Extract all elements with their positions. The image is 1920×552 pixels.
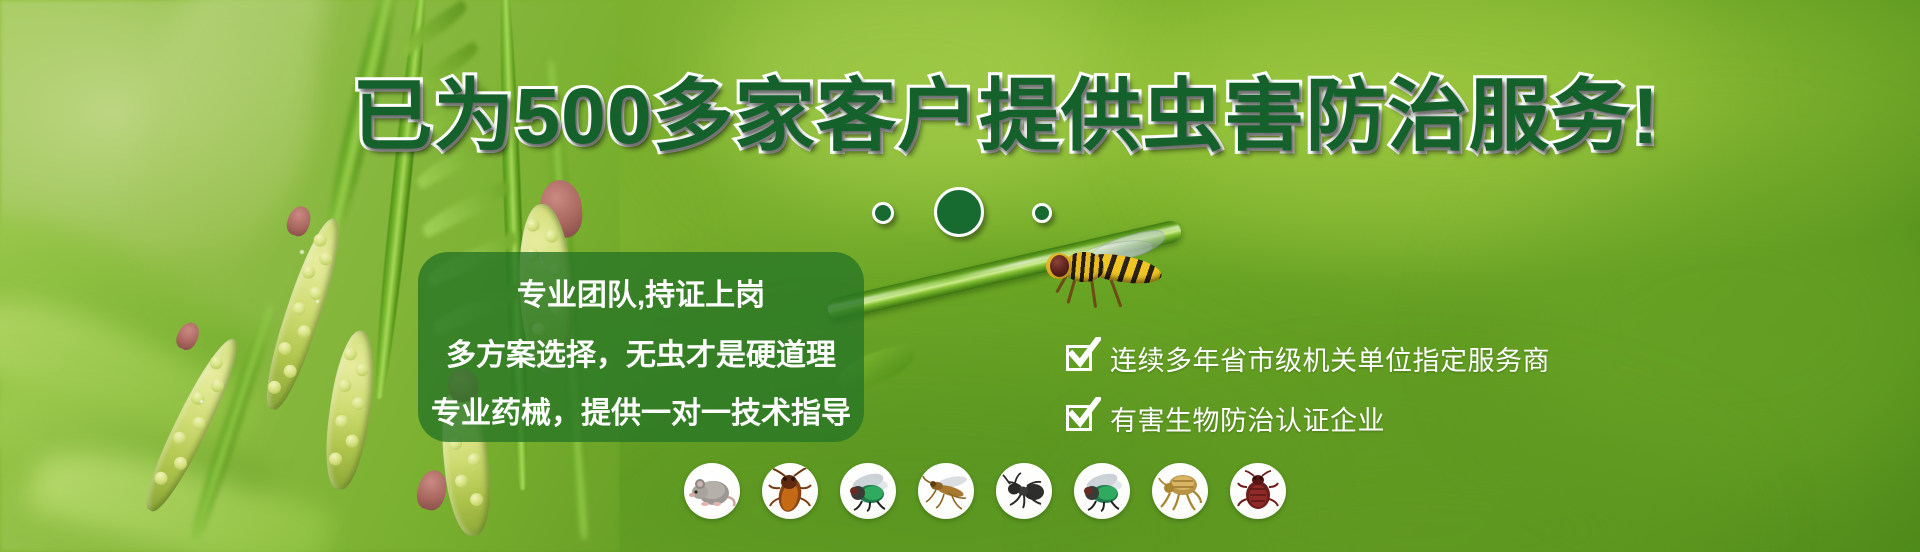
ant-icon: 蚂蚁 bbox=[996, 463, 1052, 519]
checkbox-checked-icon bbox=[1066, 343, 1096, 373]
fly-icon-2: 苍蝇 bbox=[1074, 463, 1130, 519]
hoverfly-illustration bbox=[1040, 240, 1170, 310]
list-item: 有害生物防治认证企业 bbox=[1066, 396, 1550, 440]
panel-line-1: 专业团队,持证上岗 bbox=[418, 270, 864, 314]
pest-icon-row: 鼠 蟑螂 bbox=[684, 463, 1286, 519]
credentials-list: 连续多年省市级机关单位指定服务商 有害生物防治认证企业 bbox=[1066, 336, 1550, 456]
credential-text: 有害生物防治认证企业 bbox=[1110, 399, 1385, 438]
checkbox-checked-icon bbox=[1066, 403, 1096, 433]
fly-icon: 蝇 bbox=[840, 463, 896, 519]
mosquito-icon: 蚊 bbox=[918, 463, 974, 519]
mouse-icon: 鼠 bbox=[684, 463, 740, 519]
promo-banner: 已为500多家客户提供虫害防治服务! 专业团队,持证上岗 多方案选择，无虫才是硬… bbox=[0, 0, 1920, 552]
flea-icon: 跳蚤 bbox=[1152, 463, 1208, 519]
dot-large-center bbox=[934, 187, 984, 237]
cockroach-icon: 蟑螂 bbox=[762, 463, 818, 519]
dot-small-left bbox=[872, 202, 894, 224]
credential-text: 连续多年省市级机关单位指定服务商 bbox=[1110, 339, 1550, 378]
dot-small-right bbox=[1032, 203, 1052, 223]
panel-line-3: 专业药械，提供一对一技术指导 bbox=[418, 388, 864, 432]
decorative-dots bbox=[862, 184, 1072, 240]
bedbug-icon: 臭虫 bbox=[1230, 463, 1286, 519]
page-title: 已为500多家客户提供虫害防治服务! bbox=[352, 76, 1660, 155]
features-panel: 专业团队,持证上岗 多方案选择，无虫才是硬道理 专业药械，提供一对一技术指导 bbox=[418, 252, 864, 442]
list-item: 连续多年省市级机关单位指定服务商 bbox=[1066, 336, 1550, 380]
panel-line-2: 多方案选择，无虫才是硬道理 bbox=[418, 330, 864, 374]
